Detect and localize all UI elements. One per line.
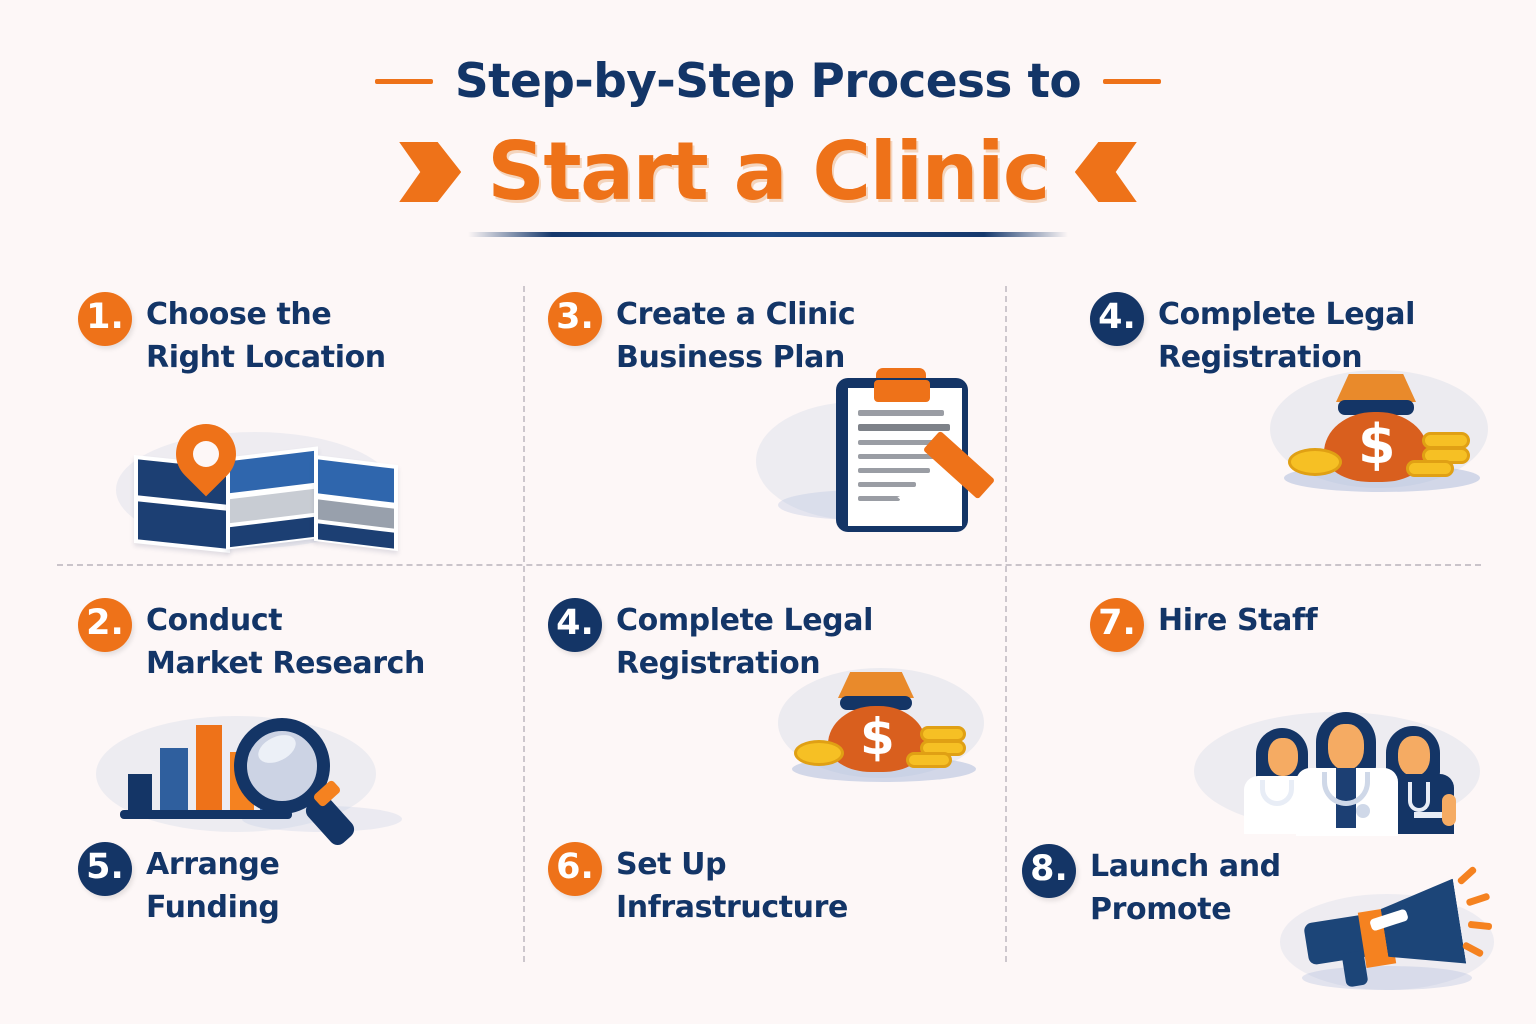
step-5-head: 5. Arrange Funding <box>78 842 498 929</box>
money-bag-with-coins-icon: $ <box>778 660 1008 810</box>
step-8-badge: 8. <box>1022 844 1076 898</box>
coin-front <box>794 740 844 766</box>
step-8-label: Launch and Promote <box>1090 844 1281 931</box>
step-4-middle-badge: 4. <box>548 598 602 652</box>
step-card-7[interactable]: 7. Hire Staff <box>1090 598 1510 652</box>
page-title: Start a Clinic <box>487 132 1049 212</box>
clipboard-with-pencil-icon <box>756 340 1006 540</box>
step-2-label: Conduct Market Research <box>146 598 425 685</box>
step-card-3[interactable]: 3. Create a Clinic Business Plan <box>548 292 988 379</box>
step-1-badge: 1. <box>78 292 132 346</box>
step-6-label: Set Up Infrastructure <box>616 842 848 929</box>
chart-bar-2 <box>160 748 188 810</box>
ribbon-arrow-left-icon <box>1075 142 1137 202</box>
step-5-badge: 5. <box>78 842 132 896</box>
step-3-badge: 3. <box>548 292 602 346</box>
coin-stack-3 <box>906 752 952 768</box>
step-card-4-middle[interactable]: 4. Complete Legal Registration $ <box>548 598 988 685</box>
header-kicker-row: Step-by-Step Process to <box>0 48 1536 114</box>
title-underline <box>468 232 1068 237</box>
medical-staff-team-icon <box>1194 692 1494 842</box>
money-bag-with-coins-icon-right: $ <box>1270 360 1510 520</box>
dollar-sign-bag: $ <box>860 712 895 762</box>
step-2-head: 2. Conduct Market Research <box>78 598 498 685</box>
step-4-right-badge: 4. <box>1090 292 1144 346</box>
step-1-head: 1. Choose the Right Location <box>78 292 498 379</box>
staff-member-doctor <box>1294 708 1400 836</box>
dash-left-icon <box>375 79 433 84</box>
step-6-head: 6. Set Up Infrastructure <box>548 842 988 929</box>
coin-front-right <box>1288 448 1342 476</box>
step-card-1[interactable]: 1. Choose the Right Location <box>78 292 498 379</box>
megaphone-icon <box>1270 854 1510 1004</box>
clipboard-clip-icon <box>874 380 930 402</box>
bar-chart-magnifying-glass-icon <box>92 710 422 840</box>
header: Step-by-Step Process to Start a Clinic <box>0 48 1536 237</box>
step-card-6[interactable]: 6. Set Up Infrastructure <box>548 842 988 929</box>
ribbon-arrow-right-icon <box>399 142 461 202</box>
divider-horizontal <box>57 564 1481 566</box>
chart-bar-3 <box>196 725 222 810</box>
step-2-badge: 2. <box>78 598 132 652</box>
step-7-badge: 7. <box>1090 598 1144 652</box>
divider-vertical-left <box>523 286 525 962</box>
header-kicker: Step-by-Step Process to <box>455 54 1081 109</box>
header-title-row: Start a Clinic <box>0 120 1536 224</box>
folded-map-with-location-pin-icon <box>98 416 418 556</box>
step-card-4-right[interactable]: 4. Complete Legal Registration $ <box>1090 292 1510 379</box>
step-6-badge: 6. <box>548 842 602 896</box>
step-5-label: Arrange Funding <box>146 842 280 929</box>
step-card-8[interactable]: 8. Launch and Promote <box>1022 844 1522 931</box>
step-1-label: Choose the Right Location <box>146 292 386 379</box>
step-card-2[interactable]: 2. Conduct Market Research <box>78 598 498 685</box>
step-7-label: Hire Staff <box>1158 598 1317 643</box>
coin-stack-right-3 <box>1406 460 1454 477</box>
step-card-5[interactable]: 5. Arrange Funding <box>78 842 498 929</box>
dollar-sign-bag-right: $ <box>1358 418 1396 472</box>
step-7-head: 7. Hire Staff <box>1090 598 1510 652</box>
dash-right-icon <box>1103 79 1161 84</box>
chart-bar-1 <box>128 774 152 810</box>
